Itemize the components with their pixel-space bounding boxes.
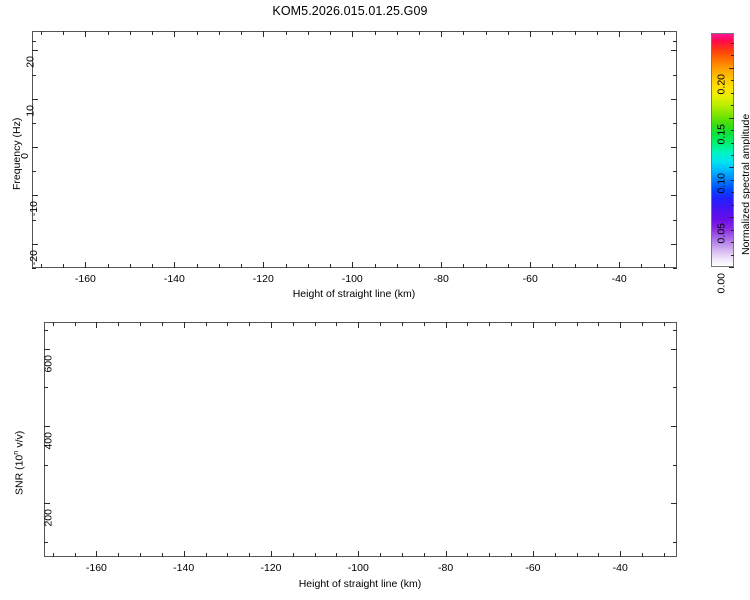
y-minor-tick-right [673, 220, 677, 221]
x-minor-tick [467, 322, 468, 326]
x-major-tick-top [358, 322, 359, 328]
x-major-tick-top [85, 31, 86, 37]
snr-canvas [45, 323, 676, 556]
x-tick-label: -80 [438, 562, 453, 574]
y-major-tick [44, 349, 50, 350]
x-minor-tick [118, 322, 119, 326]
x-minor-tick [555, 553, 556, 557]
x-minor-tick [130, 31, 131, 35]
colorbar-minor-tick [731, 93, 734, 94]
y-minor-tick-right [673, 171, 677, 172]
x-minor-tick [664, 322, 665, 326]
x-minor-tick [424, 322, 425, 326]
x-minor-tick [555, 322, 556, 326]
x-minor-tick [75, 322, 76, 326]
x-major-tick-top [96, 322, 97, 328]
x-major-tick [271, 551, 272, 557]
x-major-tick-top [446, 322, 447, 328]
y-tick-label: 10 [25, 105, 37, 117]
colorbar-minor-tick [731, 180, 734, 181]
colorbar-minor-tick [731, 55, 734, 56]
x-minor-tick [330, 31, 331, 35]
x-minor-tick [641, 31, 642, 35]
x-minor-tick [419, 31, 420, 35]
x-minor-tick [419, 264, 420, 268]
x-tick-label: -100 [342, 273, 363, 285]
colorbar-minor-tick [731, 130, 734, 131]
y-minor-tick-right [673, 41, 677, 42]
y-major-tick [44, 503, 50, 504]
x-major-tick-top [271, 322, 272, 328]
x-minor-tick [336, 322, 337, 326]
x-major-tick-top [533, 322, 534, 328]
y-minor-tick-right [673, 123, 677, 124]
x-major-tick [184, 551, 185, 557]
colorbar-minor-tick [731, 43, 734, 44]
colorbar-tick-label: 0.15 [715, 124, 727, 144]
x-minor-tick [511, 322, 512, 326]
y-minor-tick-right [673, 268, 677, 269]
y-major-tick-right [671, 50, 677, 51]
spectrogram-xaxis-title: Height of straight line (km) [293, 288, 416, 300]
x-major-tick-top [174, 31, 175, 37]
x-minor-tick [152, 31, 153, 35]
x-minor-tick [486, 264, 487, 268]
x-minor-tick [197, 31, 198, 35]
x-minor-tick [108, 264, 109, 268]
y-tick-label: 200 [43, 509, 55, 527]
y-major-tick [32, 147, 38, 148]
x-minor-tick [63, 31, 64, 35]
x-minor-tick [219, 264, 220, 268]
x-minor-tick [315, 322, 316, 326]
colorbar-major-tick [729, 167, 734, 168]
x-major-tick-top [352, 31, 353, 37]
x-tick-label: -60 [523, 273, 538, 285]
y-minor-tick [32, 75, 36, 76]
x-minor-tick [308, 264, 309, 268]
x-minor-tick [308, 31, 309, 35]
colorbar-minor-tick [731, 143, 734, 144]
snr-yaxis-tail: v/v) [14, 431, 26, 451]
colorbar-tick-label: 0.20 [715, 74, 727, 94]
x-minor-tick [664, 553, 665, 557]
x-minor-tick [642, 322, 643, 326]
x-minor-tick [424, 553, 425, 557]
colorbar-major-tick [729, 68, 734, 69]
x-minor-tick [53, 553, 54, 557]
x-minor-tick [315, 553, 316, 557]
x-tick-label: -120 [260, 562, 281, 574]
x-major-tick-top [530, 31, 531, 37]
x-minor-tick [508, 31, 509, 35]
x-minor-tick [641, 264, 642, 268]
x-minor-tick [397, 264, 398, 268]
x-major-tick-top [263, 31, 264, 37]
y-major-tick [44, 426, 50, 427]
y-minor-tick-right [673, 75, 677, 76]
x-minor-tick [380, 553, 381, 557]
x-minor-tick [63, 264, 64, 268]
x-tick-label: -100 [348, 562, 369, 574]
x-minor-tick [336, 553, 337, 557]
x-minor-tick [108, 31, 109, 35]
y-minor-tick [44, 387, 48, 388]
colorbar-minor-tick [731, 80, 734, 81]
x-major-tick [620, 551, 621, 557]
colorbar-tick-label: 0.05 [715, 223, 727, 243]
x-tick-label: -160 [75, 273, 96, 285]
x-minor-tick [463, 264, 464, 268]
x-minor-tick [249, 553, 250, 557]
x-minor-tick [293, 553, 294, 557]
x-minor-tick [118, 553, 119, 557]
y-minor-tick-right [673, 387, 677, 388]
x-minor-tick [162, 322, 163, 326]
x-major-tick [533, 551, 534, 557]
x-minor-tick [511, 553, 512, 557]
colorbar-minor-tick [731, 155, 734, 156]
x-major-tick-top [619, 31, 620, 37]
y-minor-tick [32, 268, 36, 269]
x-minor-tick [664, 31, 665, 35]
y-major-tick-right [671, 426, 677, 427]
x-major-tick-top [620, 322, 621, 328]
x-minor-tick [402, 553, 403, 557]
y-major-tick-right [671, 147, 677, 148]
x-minor-tick [575, 31, 576, 35]
y-major-tick-right [671, 349, 677, 350]
x-minor-tick [140, 322, 141, 326]
x-major-tick-top [184, 322, 185, 328]
x-tick-label: -140 [173, 562, 194, 574]
x-major-tick [441, 262, 442, 268]
y-tick-label: -20 [28, 250, 40, 265]
page-title: KOM5.2026.015.01.25.G09 [0, 4, 700, 18]
x-minor-tick [552, 264, 553, 268]
x-minor-tick [642, 553, 643, 557]
x-minor-tick [140, 553, 141, 557]
y-tick-label: 600 [43, 355, 55, 373]
y-minor-tick [32, 41, 36, 42]
colorbar-major-tick [729, 267, 734, 268]
x-minor-tick [219, 31, 220, 35]
x-minor-tick [162, 553, 163, 557]
x-major-tick-top [441, 31, 442, 37]
snr-xaxis-title: Height of straight line (km) [299, 578, 422, 590]
x-minor-tick [53, 322, 54, 326]
x-tick-label: -80 [434, 273, 449, 285]
y-minor-tick [32, 220, 36, 221]
x-major-tick [174, 262, 175, 268]
x-minor-tick [227, 322, 228, 326]
x-tick-label: -160 [86, 562, 107, 574]
x-minor-tick [330, 264, 331, 268]
x-minor-tick [293, 322, 294, 326]
x-minor-tick [241, 264, 242, 268]
x-minor-tick [597, 31, 598, 35]
y-minor-tick [44, 542, 48, 543]
x-minor-tick [286, 31, 287, 35]
x-minor-tick [597, 264, 598, 268]
x-minor-tick [241, 31, 242, 35]
colorbar-tick-label: 0.10 [715, 173, 727, 193]
colorbar-minor-tick [731, 242, 734, 243]
x-minor-tick [467, 553, 468, 557]
snr-yaxis-base: SNR (10 [14, 455, 26, 495]
x-minor-tick [402, 322, 403, 326]
snr-panel [44, 322, 677, 557]
y-tick-label: 400 [43, 432, 55, 450]
x-minor-tick [227, 553, 228, 557]
spectrogram-panel [32, 31, 677, 268]
x-tick-label: -120 [253, 273, 274, 285]
x-major-tick [619, 262, 620, 268]
y-tick-label: 20 [25, 56, 37, 68]
colorbar-major-tick [729, 217, 734, 218]
x-tick-label: -40 [613, 562, 628, 574]
x-minor-tick [130, 264, 131, 268]
x-minor-tick [463, 31, 464, 35]
y-major-tick-right [671, 195, 677, 196]
snr-yaxis-exponent: n [11, 451, 20, 455]
x-minor-tick [41, 31, 42, 35]
x-minor-tick [380, 322, 381, 326]
x-major-tick [358, 551, 359, 557]
y-minor-tick [32, 123, 36, 124]
x-minor-tick [206, 553, 207, 557]
spectrogram-yaxis-title: Frequency (Hz) [11, 118, 23, 190]
y-minor-tick-right [673, 330, 677, 331]
colorbar-major-tick [729, 118, 734, 119]
x-major-tick [530, 262, 531, 268]
colorbar-minor-tick [731, 230, 734, 231]
x-minor-tick [598, 553, 599, 557]
x-minor-tick [197, 264, 198, 268]
x-tick-label: -60 [525, 562, 540, 574]
y-major-tick-right [671, 244, 677, 245]
y-major-tick-right [671, 99, 677, 100]
y-major-tick-right [671, 503, 677, 504]
colorbar-minor-tick [731, 255, 734, 256]
y-minor-tick [32, 171, 36, 172]
x-minor-tick [152, 264, 153, 268]
x-minor-tick [249, 322, 250, 326]
x-minor-tick [489, 322, 490, 326]
x-minor-tick [375, 264, 376, 268]
y-tick-label: -10 [28, 201, 40, 216]
x-minor-tick [397, 31, 398, 35]
x-major-tick [96, 551, 97, 557]
snr-yaxis-title: SNR (10n v/v) [11, 431, 26, 495]
x-minor-tick [577, 322, 578, 326]
colorbar-minor-tick [731, 192, 734, 193]
x-minor-tick [286, 264, 287, 268]
figure-root: KOM5.2026.015.01.25.G09 -160-140-120-100… [0, 0, 750, 600]
x-minor-tick [489, 553, 490, 557]
spectrogram-canvas [33, 32, 676, 267]
colorbar-minor-tick [731, 105, 734, 106]
x-major-tick [85, 262, 86, 268]
y-minor-tick-right [673, 465, 677, 466]
x-minor-tick [375, 31, 376, 35]
y-major-tick [32, 244, 38, 245]
y-minor-tick [44, 330, 48, 331]
colorbar-title: Normalized spectral amplitude [740, 114, 750, 255]
x-tick-label: -40 [612, 273, 627, 285]
colorbar-minor-tick [731, 205, 734, 206]
x-minor-tick [664, 264, 665, 268]
x-major-tick [446, 551, 447, 557]
x-minor-tick [598, 322, 599, 326]
y-major-tick [32, 99, 38, 100]
x-minor-tick [41, 264, 42, 268]
y-minor-tick-right [673, 542, 677, 543]
y-major-tick [32, 50, 38, 51]
x-major-tick [352, 262, 353, 268]
x-minor-tick [577, 553, 578, 557]
x-minor-tick [508, 264, 509, 268]
x-minor-tick [486, 31, 487, 35]
x-minor-tick [552, 31, 553, 35]
x-major-tick [263, 262, 264, 268]
x-tick-label: -140 [164, 273, 185, 285]
y-minor-tick [44, 465, 48, 466]
y-major-tick [32, 195, 38, 196]
x-minor-tick [575, 264, 576, 268]
x-minor-tick [206, 322, 207, 326]
x-minor-tick [75, 553, 76, 557]
colorbar-tick-label: 0.00 [715, 273, 727, 293]
